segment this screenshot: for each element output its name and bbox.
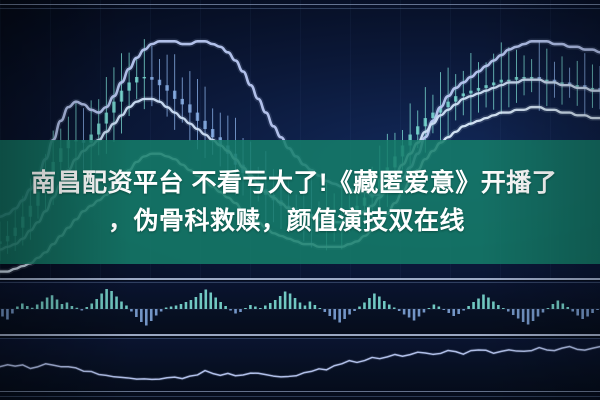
trend-line-panel (0, 338, 600, 392)
divider-bottom-2 (0, 396, 600, 397)
macd-histogram-svg (0, 281, 600, 337)
trend-line-svg (0, 338, 600, 392)
caption-line-1: 南昌配资平台 不看亏大了!《藏匿爱意》开播了 (0, 164, 600, 202)
caption-overlay-band: 南昌配资平台 不看亏大了!《藏匿爱意》开播了 ，伪骨科救赎，颜值演技双在线 (0, 140, 600, 264)
caption-line-2: ，伪骨科救赎，颜值演技双在线 (0, 202, 600, 240)
banner-image: 南昌配资平台 不看亏大了!《藏匿爱意》开播了 ，伪骨科救赎，颜值演技双在线 (0, 0, 600, 400)
macd-histogram-panel (0, 281, 600, 337)
